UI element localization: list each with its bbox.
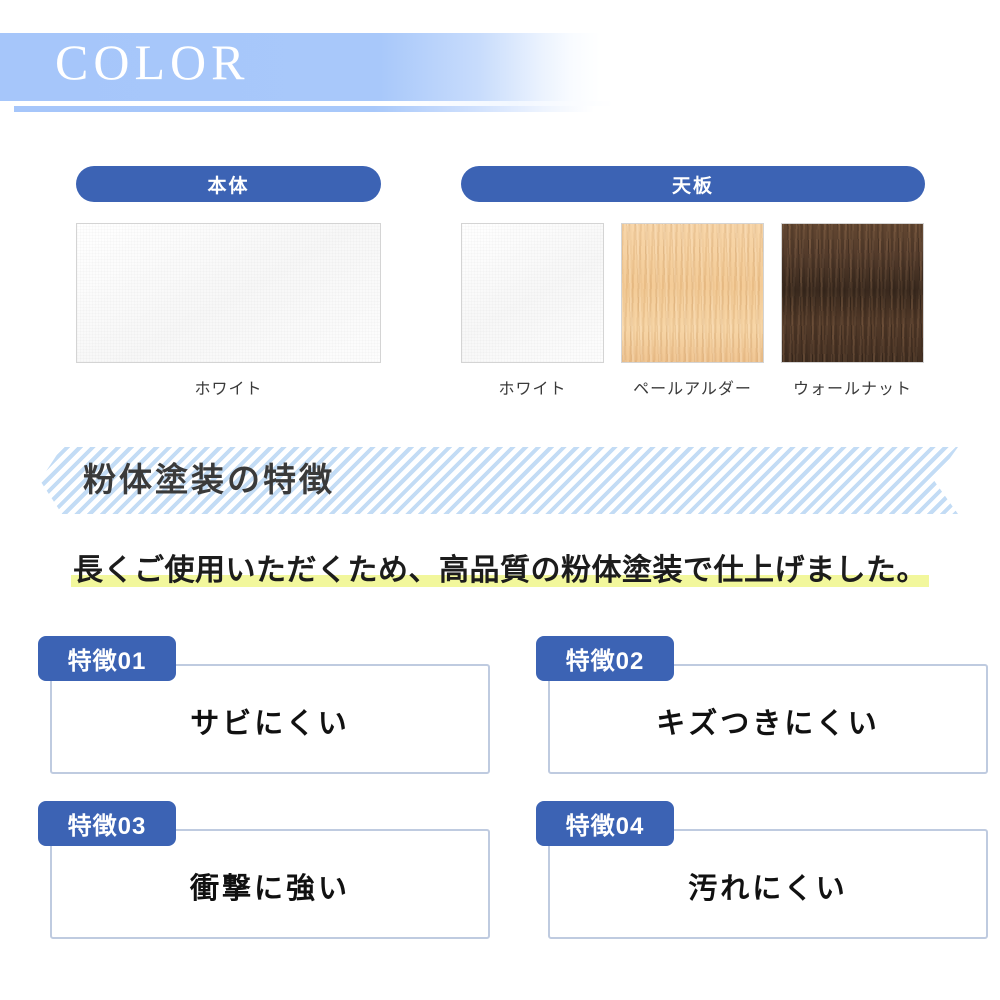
group-pill-tabletop: 天板 (461, 166, 925, 202)
swatch-caption-top-walnut: ウォールナット (781, 375, 924, 399)
page-title: COLOR (55, 34, 249, 90)
feature-label-02: キズつきにくい (656, 696, 879, 742)
feature-badge-04: 特徴04 (536, 801, 674, 846)
swatch-chip-walnut[interactable] (781, 223, 924, 363)
feature-badge-03: 特徴03 (38, 801, 176, 846)
swatch-cell-top-pale-alder[interactable]: ペールアルダー (621, 223, 764, 399)
lead-sentence-row: 長くご使用いただくため、高品質の粉体塗装で仕上げました。 (0, 549, 1000, 593)
swatch-cell-body-white[interactable]: ホワイト (76, 223, 381, 399)
feature-label-03: 衝撃に強い (190, 861, 350, 907)
group-pill-body: 本体 (76, 166, 381, 202)
swatch-group-tabletop: 天板 ホワイト ペールアルダー ウォールナット (461, 166, 925, 399)
feature-label-01: サビにくい (190, 696, 349, 742)
swatch-group-body: 本体 ホワイト (76, 166, 381, 399)
swatch-caption-top-pale-alder: ペールアルダー (621, 375, 764, 399)
lead-sentence: 長くご使用いただくため、高品質の粉体塗装で仕上げました。 (71, 554, 929, 587)
feature-card-02: キズつきにくい 特徴02 (548, 648, 988, 774)
feature-badge-01: 特徴01 (38, 636, 176, 681)
swatch-caption-top-white: ホワイト (461, 375, 604, 399)
swatch-row-tabletop: ホワイト ペールアルダー ウォールナット (461, 223, 925, 399)
swatch-row-body: ホワイト (76, 223, 381, 399)
swatch-chip-pale-alder[interactable] (621, 223, 764, 363)
feature-badge-02: 特徴02 (536, 636, 674, 681)
swatch-chip-white[interactable] (461, 223, 604, 363)
swatch-caption-body-white: ホワイト (76, 375, 381, 399)
header-underline-bar (14, 106, 1000, 112)
feature-label-04: 汚れにくい (688, 861, 847, 907)
section-heading: 粉体塗装の特徴 (83, 457, 335, 503)
feature-card-04: 汚れにくい 特徴04 (548, 813, 988, 939)
feature-card-03: 衝撃に強い 特徴03 (50, 813, 490, 939)
feature-card-01: サビにくい 特徴01 (50, 648, 490, 774)
swatch-chip-white[interactable] (76, 223, 381, 363)
swatch-cell-top-walnut[interactable]: ウォールナット (781, 223, 924, 399)
swatch-cell-top-white[interactable]: ホワイト (461, 223, 604, 399)
